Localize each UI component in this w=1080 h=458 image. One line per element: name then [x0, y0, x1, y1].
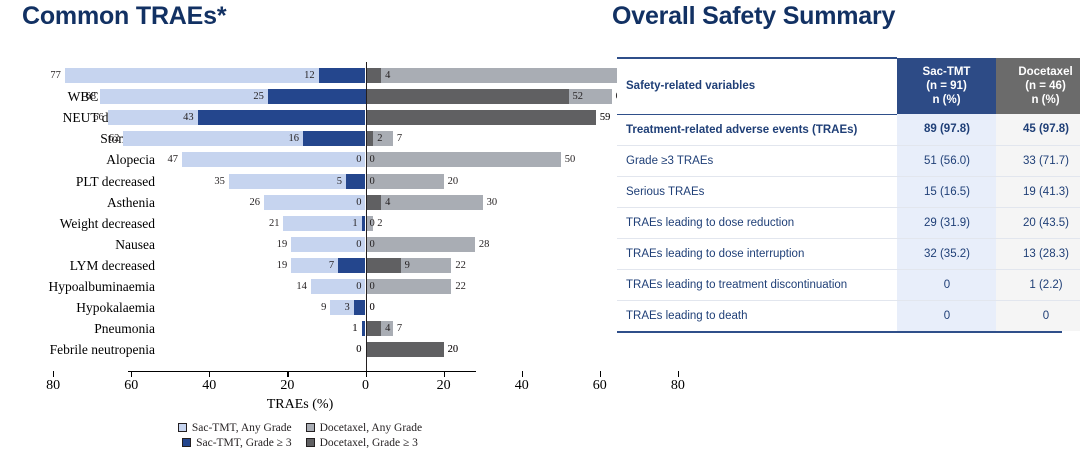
chart-row: Nausea190028 [0, 234, 600, 255]
chart-value-sac-tmt-any-grade: 35 [199, 174, 225, 189]
chart-seg-docetaxel-any-grade [381, 68, 627, 83]
chart-seg-docetaxel-any-grade [366, 279, 452, 294]
chart-value-docetaxel-grade3: 4 [385, 195, 390, 210]
chart-value-docetaxel-any-grade: 22 [455, 279, 466, 294]
chart-row: Hypoalbuminaemia140022 [0, 276, 600, 297]
chart-axis-tick-label: 60 [111, 378, 151, 394]
legend-row-any-grade: Sac-TMT, Any Grade Docetaxel, Any Grade [0, 420, 600, 435]
chart-axis-tick-label: 0 [346, 378, 386, 394]
chart-value-sac-tmt-grade3: 7 [308, 258, 334, 273]
legend-row-grade-3: Sac-TMT, Grade ≥ 3 Docetaxel, Grade ≥ 3 [0, 435, 600, 450]
chart-category-label: PLT decreased [0, 171, 155, 192]
chart-row: Pneumonia1147 [0, 318, 600, 339]
chart-row: PLT decreased355020 [0, 171, 600, 192]
chart-row: WBC decreased68255263 [0, 86, 600, 107]
chart-row: Stomatitis621627 [0, 128, 600, 149]
chart-value-sac-tmt-any-grade: 14 [281, 279, 307, 294]
table-cell-docetaxel: 13 (28.3) [996, 238, 1080, 269]
chart-row: Alopecia470050 [0, 149, 600, 170]
chart-axis-tick [53, 371, 54, 377]
chart-axis-tick-label: 80 [658, 378, 698, 394]
chart-value-sac-tmt-any-grade: 66 [78, 110, 104, 125]
chart-category-label: Asthenia [0, 192, 155, 213]
chart-value-docetaxel-any-grade: 7 [397, 131, 402, 146]
chart-seg-sac-tmt-grade3 [268, 89, 366, 104]
chart-seg-sac-tmt-grade3 [354, 300, 366, 315]
chart-value-sac-tmt-grade3: 1 [332, 216, 358, 231]
chart-axis-tick-label: 20 [424, 378, 464, 394]
chart-seg-sac-tmt-grade3 [319, 68, 366, 83]
legend-item-sac-tmt-any-grade: Sac-TMT, Any Grade [178, 422, 292, 434]
chart-value-sac-tmt-any-grade: 62 [93, 131, 119, 146]
legend-swatch-icon [178, 423, 187, 432]
chart-axis-tick [678, 371, 679, 377]
chart-seg-docetaxel-any-grade [381, 195, 483, 210]
chart-value-docetaxel-any-grade: 2 [377, 216, 382, 231]
chart-value-docetaxel-any-grade: 22 [455, 258, 466, 273]
chart-value-docetaxel-grade3: 52 [573, 89, 584, 104]
chart-value-docetaxel-any-grade: 20 [448, 342, 459, 357]
chart-row: NEUT decreased66435959 [0, 107, 600, 128]
chart-row: Hypokalaemia9300 [0, 297, 600, 318]
chart-value-sac-tmt-grade3: 3 [324, 300, 350, 315]
chart-value-docetaxel-any-grade: 0 [370, 300, 375, 315]
page-title-overall-safety-summary: Overall Safety Summary [612, 2, 895, 31]
chart-value-sac-tmt-grade3: 0 [336, 237, 362, 252]
chart-seg-sac-tmt-grade3 [198, 110, 366, 125]
legend-label: Sac-TMT, Any Grade [192, 422, 292, 434]
chart-value-sac-tmt-grade3: 16 [273, 131, 299, 146]
chart-category-label: Hypokalaemia [0, 297, 155, 318]
chart-legend: Sac-TMT, Any Grade Docetaxel, Any Grade … [0, 420, 600, 450]
table-cell-sac-tmt: 0 [897, 269, 996, 300]
column-header-sac-tmt-name: Sac-TMT [901, 65, 992, 79]
column-header-docetaxel-unit: n (%) [1000, 93, 1080, 107]
chart-row: Weight decreased21102 [0, 213, 600, 234]
table-cell-docetaxel: 33 (71.7) [996, 145, 1080, 176]
column-header-sac-tmt: Sac-TMT (n = 91) n (%) [897, 58, 996, 114]
chart-value-sac-tmt-grade3: 43 [168, 110, 194, 125]
column-header-sac-tmt-unit: n (%) [901, 93, 992, 107]
chart-value-docetaxel-any-grade: 28 [479, 237, 490, 252]
legend-label: Sac-TMT, Grade ≥ 3 [196, 437, 292, 449]
table-cell-variable: TRAEs leading to treatment discontinuati… [617, 269, 897, 300]
chart-value-docetaxel-grade3: 0 [370, 237, 375, 252]
chart-axis-tick-label: 40 [502, 378, 542, 394]
chart-value-docetaxel-any-grade: 50 [565, 152, 576, 167]
chart-axis-tick [522, 371, 523, 377]
legend-label: Docetaxel, Grade ≥ 3 [320, 437, 418, 449]
chart-category-label: Febrile neutropenia [0, 339, 155, 360]
chart-seg-docetaxel-grade3 [366, 89, 569, 104]
table-cell-variable: Grade ≥3 TRAEs [617, 145, 897, 176]
table-cell-docetaxel: 0 [996, 300, 1080, 331]
legend-swatch-icon [182, 438, 191, 447]
chart-zero-line [366, 62, 367, 372]
table-row: TRAEs leading to dose reduction29 (31.9)… [617, 207, 1080, 238]
chart-value-sac-tmt-grade3: 0 [336, 342, 362, 357]
chart-value-sac-tmt-any-grade: 19 [261, 258, 287, 273]
chart-value-docetaxel-grade3: 2 [377, 131, 382, 146]
chart-value-sac-tmt-any-grade: 21 [253, 216, 279, 231]
chart-seg-docetaxel-grade3 [366, 195, 382, 210]
chart-seg-docetaxel-grade3 [366, 110, 596, 125]
chart-seg-docetaxel-grade3 [366, 258, 401, 273]
chart-category-label: Nausea [0, 234, 155, 255]
table-cell-sac-tmt: 89 (97.8) [897, 114, 996, 145]
column-header-docetaxel: Docetaxel (n = 46) n (%) [996, 58, 1080, 114]
table-cell-docetaxel: 1 (2.2) [996, 269, 1080, 300]
chart-category-label: Hypoalbuminaemia [0, 276, 155, 297]
chart-value-docetaxel-grade3: 4 [385, 68, 390, 83]
chart-value-docetaxel-any-grade: 20 [448, 174, 459, 189]
overall-safety-summary-table-wrapper: Safety-related variables Sac-TMT (n = 91… [617, 57, 1062, 333]
chart-seg-docetaxel-grade3 [366, 342, 444, 357]
chart-seg-sac-tmt-grade3 [346, 174, 366, 189]
chart-axis-tick [366, 371, 367, 377]
chart-value-sac-tmt-grade3: 12 [289, 68, 315, 83]
chart-axis-tick-label: 80 [33, 378, 73, 394]
table-row: TRAEs leading to treatment discontinuati… [617, 269, 1080, 300]
chart-axis-tick [444, 371, 445, 377]
chart-axis-tick [600, 371, 601, 377]
table-cell-docetaxel: 45 (97.8) [996, 114, 1080, 145]
table-row: TRAEs leading to death00 [617, 300, 1080, 331]
chart-category-label: Alopecia [0, 149, 155, 170]
chart-value-docetaxel-any-grade: 7 [397, 321, 402, 336]
chart-seg-sac-tmt-grade3 [338, 258, 365, 273]
chart-value-docetaxel-grade3: 0 [370, 279, 375, 294]
common-traes-diverging-bar-chart: Anaemia7712467WBC decreased68255263NEUT … [0, 60, 600, 458]
chart-value-docetaxel-grade3: 4 [385, 321, 390, 336]
chart-value-docetaxel-grade3: 0 [370, 152, 375, 167]
chart-value-sac-tmt-grade3: 5 [316, 174, 342, 189]
table-row: TRAEs leading to dose interruption32 (35… [617, 238, 1080, 269]
chart-value-docetaxel-grade3: 9 [405, 258, 410, 273]
table-row: Treatment-related adverse events (TRAEs)… [617, 114, 1080, 145]
table-body: Treatment-related adverse events (TRAEs)… [617, 114, 1080, 331]
chart-value-docetaxel-grade3: 0 [370, 174, 375, 189]
table-row: Grade ≥3 TRAEs51 (56.0)33 (71.7) [617, 145, 1080, 176]
chart-row: Anaemia7712467 [0, 65, 600, 86]
table-cell-sac-tmt: 0 [897, 300, 996, 331]
chart-axis-tick-label: 40 [189, 378, 229, 394]
chart-row: Asthenia260430 [0, 192, 600, 213]
table-cell-variable: Serious TRAEs [617, 176, 897, 207]
chart-value-sac-tmt-any-grade: 9 [300, 300, 326, 315]
table-cell-variable: TRAEs leading to death [617, 300, 897, 331]
chart-axis-tick-label: 60 [580, 378, 620, 394]
chart-value-sac-tmt-any-grade: 77 [35, 68, 61, 83]
chart-axis-tick [287, 371, 288, 377]
chart-seg-docetaxel-grade3 [366, 68, 382, 83]
chart-value-sac-tmt-grade3: 0 [336, 195, 362, 210]
chart-x-axis-line [128, 371, 476, 372]
table-cell-docetaxel: 20 (43.5) [996, 207, 1080, 238]
chart-seg-sac-tmt-any-grade [65, 68, 319, 83]
chart-axis-tick-label: 20 [267, 378, 307, 394]
chart-value-sac-tmt-grade3: 1 [332, 321, 358, 336]
chart-axis-tick [131, 371, 132, 377]
table-cell-sac-tmt: 51 (56.0) [897, 145, 996, 176]
chart-value-docetaxel-any-grade: 59 [600, 110, 611, 125]
chart-value-sac-tmt-grade3: 0 [336, 279, 362, 294]
legend-swatch-icon [306, 423, 315, 432]
overall-safety-summary-table: Safety-related variables Sac-TMT (n = 91… [617, 57, 1080, 331]
chart-value-sac-tmt-any-grade: 68 [70, 89, 96, 104]
chart-seg-docetaxel-grade3 [366, 321, 382, 336]
chart-value-docetaxel-grade3: 0 [370, 216, 375, 231]
chart-axis-tick [209, 371, 210, 377]
chart-x-axis-title: TRAEs (%) [0, 397, 600, 413]
chart-value-sac-tmt-grade3: 25 [238, 89, 264, 104]
table-cell-sac-tmt: 15 (16.5) [897, 176, 996, 207]
column-header-sac-tmt-n: (n = 91) [901, 79, 992, 93]
column-header-variables: Safety-related variables [617, 58, 897, 114]
table-head: Safety-related variables Sac-TMT (n = 91… [617, 58, 1080, 114]
chart-value-sac-tmt-any-grade: 19 [261, 237, 287, 252]
table-cell-sac-tmt: 29 (31.9) [897, 207, 996, 238]
column-header-docetaxel-name: Docetaxel [1000, 65, 1080, 79]
chart-seg-docetaxel-any-grade [366, 237, 475, 252]
chart-category-label: Weight decreased [0, 213, 155, 234]
chart-value-sac-tmt-any-grade: 26 [234, 195, 260, 210]
chart-seg-docetaxel-any-grade [373, 131, 393, 146]
chart-category-label: LYM decreased [0, 255, 155, 276]
chart-seg-docetaxel-any-grade [366, 152, 561, 167]
chart-seg-sac-tmt-grade3 [303, 131, 365, 146]
table-cell-docetaxel: 19 (41.3) [996, 176, 1080, 207]
chart-value-sac-tmt-grade3: 0 [336, 152, 362, 167]
chart-value-docetaxel-any-grade: 30 [487, 195, 498, 210]
chart-category-label: Pneumonia [0, 318, 155, 339]
page-title-common-traes: Common TRAEs* [22, 2, 226, 31]
table-header-row: Safety-related variables Sac-TMT (n = 91… [617, 58, 1080, 114]
table-cell-variable: TRAEs leading to dose interruption [617, 238, 897, 269]
table-cell-variable: Treatment-related adverse events (TRAEs) [617, 114, 897, 145]
legend-item-docetaxel-any-grade: Docetaxel, Any Grade [306, 422, 423, 434]
legend-item-sac-tmt-grade-3: Sac-TMT, Grade ≥ 3 [182, 437, 292, 449]
chart-row: Febrile neutropenia002020 [0, 339, 600, 360]
legend-item-docetaxel-grade-3: Docetaxel, Grade ≥ 3 [306, 437, 418, 449]
column-header-docetaxel-n: (n = 46) [1000, 79, 1080, 93]
chart-seg-docetaxel-any-grade [366, 174, 444, 189]
legend-label: Docetaxel, Any Grade [320, 422, 423, 434]
table-row: Serious TRAEs15 (16.5)19 (41.3) [617, 176, 1080, 207]
chart-value-sac-tmt-any-grade: 47 [152, 152, 178, 167]
legend-swatch-icon [306, 438, 315, 447]
chart-row: LYM decreased197922 [0, 255, 600, 276]
table-cell-sac-tmt: 32 (35.2) [897, 238, 996, 269]
table-bottom-rule [617, 331, 1062, 333]
table-cell-variable: TRAEs leading to dose reduction [617, 207, 897, 238]
